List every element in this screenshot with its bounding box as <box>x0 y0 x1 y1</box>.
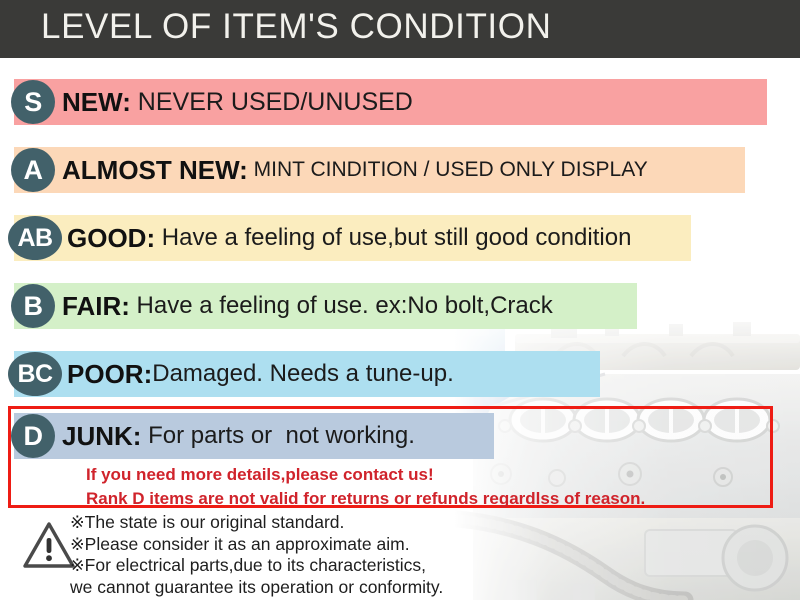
rank-badge-bc: BC <box>8 352 62 396</box>
rank-description: Have a feeling of use,but still good con… <box>155 224 631 252</box>
header-bar: LEVEL OF ITEM'S CONDITION <box>0 0 800 58</box>
rank-badge-label: AB <box>17 226 52 251</box>
rank-text-b: FAIR: Have a feeling of use. ex:No bolt,… <box>62 283 553 329</box>
rank-text-s: NEW: NEVER USED/UNUSED <box>62 79 413 125</box>
rank-title: FAIR: <box>62 291 130 322</box>
footer-note-line: ※Please consider it as an approximate ai… <box>70 534 443 556</box>
rank-d-warning-box: If you need more details,please contact … <box>8 406 773 508</box>
footer-note-line: ※For electrical parts,due to its charact… <box>70 555 443 577</box>
rank-description: MINT CINDITION / USED ONLY DISPLAY <box>248 158 648 182</box>
rank-badge-a: A <box>11 148 55 192</box>
condition-chart-page: LEVEL OF ITEM'S CONDITION SNEW: NEVER US… <box>0 0 800 600</box>
rank-badge-b: B <box>11 284 55 328</box>
rank-title: POOR: <box>67 359 152 390</box>
rank-row-bc: BCPOOR:Damaged. Needs a tune-up. <box>0 351 800 397</box>
page-title: LEVEL OF ITEM'S CONDITION <box>41 7 551 47</box>
warning-line-contact: If you need more details,please contact … <box>86 465 434 485</box>
footer-notes: ※The state is our original standard.※Ple… <box>70 512 443 598</box>
rank-badge-label: A <box>24 157 43 184</box>
rank-title: NEW: <box>62 87 131 118</box>
rank-badge-label: B <box>24 293 43 320</box>
rank-row-s: SNEW: NEVER USED/UNUSED <box>0 79 800 125</box>
rank-description: NEVER USED/UNUSED <box>131 88 413 117</box>
rank-text-a: ALMOST NEW: MINT CINDITION / USED ONLY D… <box>62 147 648 193</box>
rank-row-b: BFAIR: Have a feeling of use. ex:No bolt… <box>0 283 800 329</box>
rank-badge-label: S <box>24 89 42 116</box>
rank-badge-s: S <box>11 80 55 124</box>
rank-text-ab: GOOD: Have a feeling of use,but still go… <box>67 215 631 261</box>
rank-row-ab: ABGOOD: Have a feeling of use,but still … <box>0 215 800 261</box>
rank-title: GOOD: <box>67 223 155 254</box>
rank-description: Have a feeling of use. ex:No bolt,Crack <box>130 292 553 320</box>
rank-title: ALMOST NEW: <box>62 155 248 186</box>
warning-line-no-returns: Rank D items are not valid for returns o… <box>86 489 645 509</box>
footer-note-line: ※The state is our original standard. <box>70 512 443 534</box>
rank-row-a: AALMOST NEW: MINT CINDITION / USED ONLY … <box>0 147 800 193</box>
warning-triangle-icon <box>22 520 76 570</box>
rank-badge-ab: AB <box>8 216 62 260</box>
rank-badge-label: BC <box>17 362 52 387</box>
footer-note-line: we cannot guarantee its operation or con… <box>70 577 443 599</box>
rank-description: Damaged. Needs a tune-up. <box>152 360 454 388</box>
rank-text-bc: POOR:Damaged. Needs a tune-up. <box>67 351 454 397</box>
